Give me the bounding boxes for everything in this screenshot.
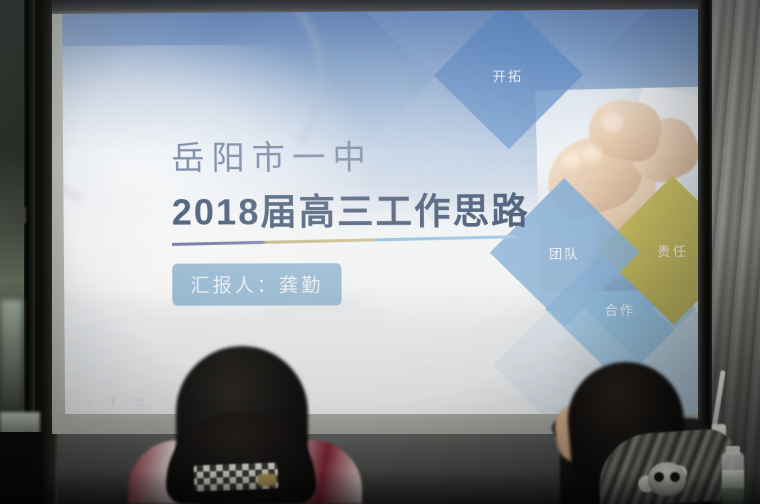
bottle-cap (726, 446, 740, 455)
slide-canvas: 合作 责任 团队 开拓 岳阳市一中 2018届高三工作思路 汇报人：龚勤 · /… (62, 9, 703, 414)
left-window-frame (0, 0, 58, 504)
diamond-label-hezuo: 合作 (605, 299, 636, 318)
diamond-label-tuandui: 团队 (549, 243, 580, 262)
presenter-badge: 汇报人：龚勤 (172, 263, 342, 306)
diamond-label-zeren: 责任 (658, 240, 689, 259)
projected-slide: 合作 责任 团队 开拓 岳阳市一中 2018届高三工作思路 汇报人：龚勤 · /… (62, 9, 703, 414)
school-name: 岳阳市一中 (171, 130, 373, 179)
photo-scene: 合作 责任 团队 开拓 岳阳市一中 2018届高三工作思路 汇报人：龚勤 · /… (0, 0, 760, 504)
window-reflection (1, 300, 22, 410)
slide-main-title: 2018届高三工作思路 (172, 182, 530, 236)
slide-footer-marks: · / □ · (87, 397, 177, 409)
diamond-label-kaituo: 开拓 (493, 65, 524, 84)
window-sill (0, 412, 40, 434)
cloud-shape (355, 277, 547, 322)
window-latch (16, 207, 26, 223)
foreground-shadow (0, 470, 760, 504)
